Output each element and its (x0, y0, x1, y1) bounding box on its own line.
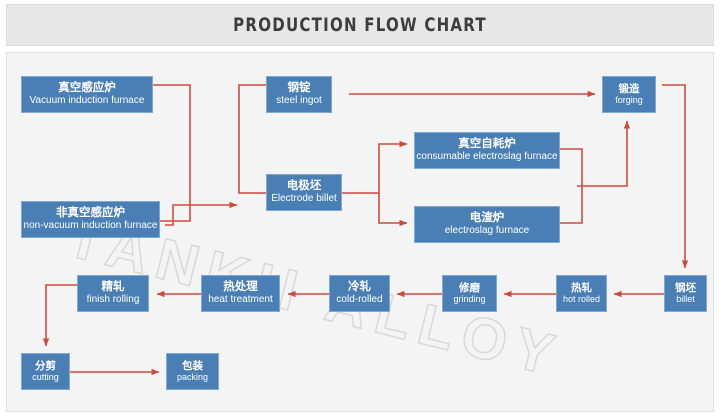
node-label-cn: 包装 (182, 360, 203, 372)
node-label-cn: 真空感应炉 (58, 82, 116, 96)
page-title: PRODUCTION FLOW CHART (49, 5, 670, 45)
flow-node-electroslag-furnace: 电渣炉electroslag furnace (414, 206, 560, 243)
flow-node-forging: 锻造forging (602, 76, 656, 113)
node-label-en: billet (676, 294, 695, 305)
flow-node-vacuum-induction-furnace: 真空感应炉Vacuum induction furnace (21, 76, 153, 113)
node-label-en: consumable electroslag furnace (416, 151, 557, 163)
edge-forging-to-billet (662, 85, 685, 268)
node-label-cn: 电渣炉 (470, 212, 505, 226)
edge-bracket-split (239, 85, 266, 193)
edge-spine-to-bracket (165, 205, 237, 225)
chart-header: PRODUCTION FLOW CHART (6, 4, 714, 46)
flow-node-electrode-billet: 电极坯Electrode billet (266, 174, 342, 211)
edge-furnaces-merge (560, 149, 582, 223)
node-label-cn: 修磨 (459, 282, 480, 294)
node-label-en: cutting (32, 372, 59, 383)
node-label-cn: 分剪 (35, 360, 56, 372)
edge-merge-to-forging (577, 121, 627, 186)
node-label-en: forging (615, 95, 643, 106)
node-label-en: steel ingot (276, 95, 322, 107)
edge-finishrolling-to-cutting (46, 285, 77, 346)
production-flow-chart-page: PRODUCTION FLOW CHART TANKII ALLOY (0, 0, 720, 419)
node-label-en: cold-rolled (336, 294, 382, 306)
flow-node-grinding: 修磨grinding (442, 275, 497, 312)
edge-billet-up (379, 144, 407, 193)
node-label-cn: 钢锭 (288, 82, 311, 96)
node-label-en: Electrode billet (271, 193, 337, 205)
node-label-en: grinding (453, 294, 485, 305)
flow-node-packing: 包装packing (166, 353, 219, 390)
node-label-cn: 钢坯 (675, 282, 696, 294)
node-label-en: finish rolling (87, 294, 140, 306)
node-label-cn: 冷轧 (348, 281, 371, 295)
node-label-en: hot rolled (563, 294, 600, 305)
node-label-en: Vacuum induction furnace (30, 95, 145, 107)
flow-node-consumable-electroslag-furnace: 真空自耗炉consumable electroslag furnace (414, 132, 560, 169)
edge-billet-down (379, 193, 407, 223)
flow-node-hot-rolled: 热轧hot rolled (556, 275, 607, 312)
node-label-en: electroslag furnace (445, 225, 530, 237)
flow-node-finish-rolling: 精轧finish rolling (77, 275, 149, 312)
node-label-en: heat treatment (208, 294, 272, 306)
node-label-cn: 锻造 (619, 83, 640, 95)
node-label-en: packing (177, 372, 208, 383)
flow-node-steel-ingot: 钢锭steel ingot (266, 76, 332, 113)
node-label-cn: 热处理 (223, 281, 258, 295)
flow-node-heat-treatment: 热处理heat treatment (201, 275, 280, 312)
node-label-cn: 非真空感应炉 (56, 207, 125, 221)
flow-node-billet: 钢坯billet (664, 275, 707, 312)
flow-chart-panel: TANKII ALLOY (6, 52, 714, 412)
node-label-cn: 电极坯 (287, 180, 322, 194)
node-label-en: non-vacuum induction furnace (24, 220, 158, 232)
flow-node-cutting: 分剪cutting (21, 353, 70, 390)
node-label-cn: 热轧 (571, 282, 592, 294)
flow-node-non-vacuum-induction-furnace: 非真空感应炉non-vacuum induction furnace (21, 201, 160, 238)
flow-node-cold-rolled: 冷轧cold-rolled (329, 275, 390, 312)
node-label-cn: 精轧 (102, 281, 125, 295)
node-label-cn: 真空自耗炉 (458, 138, 516, 152)
